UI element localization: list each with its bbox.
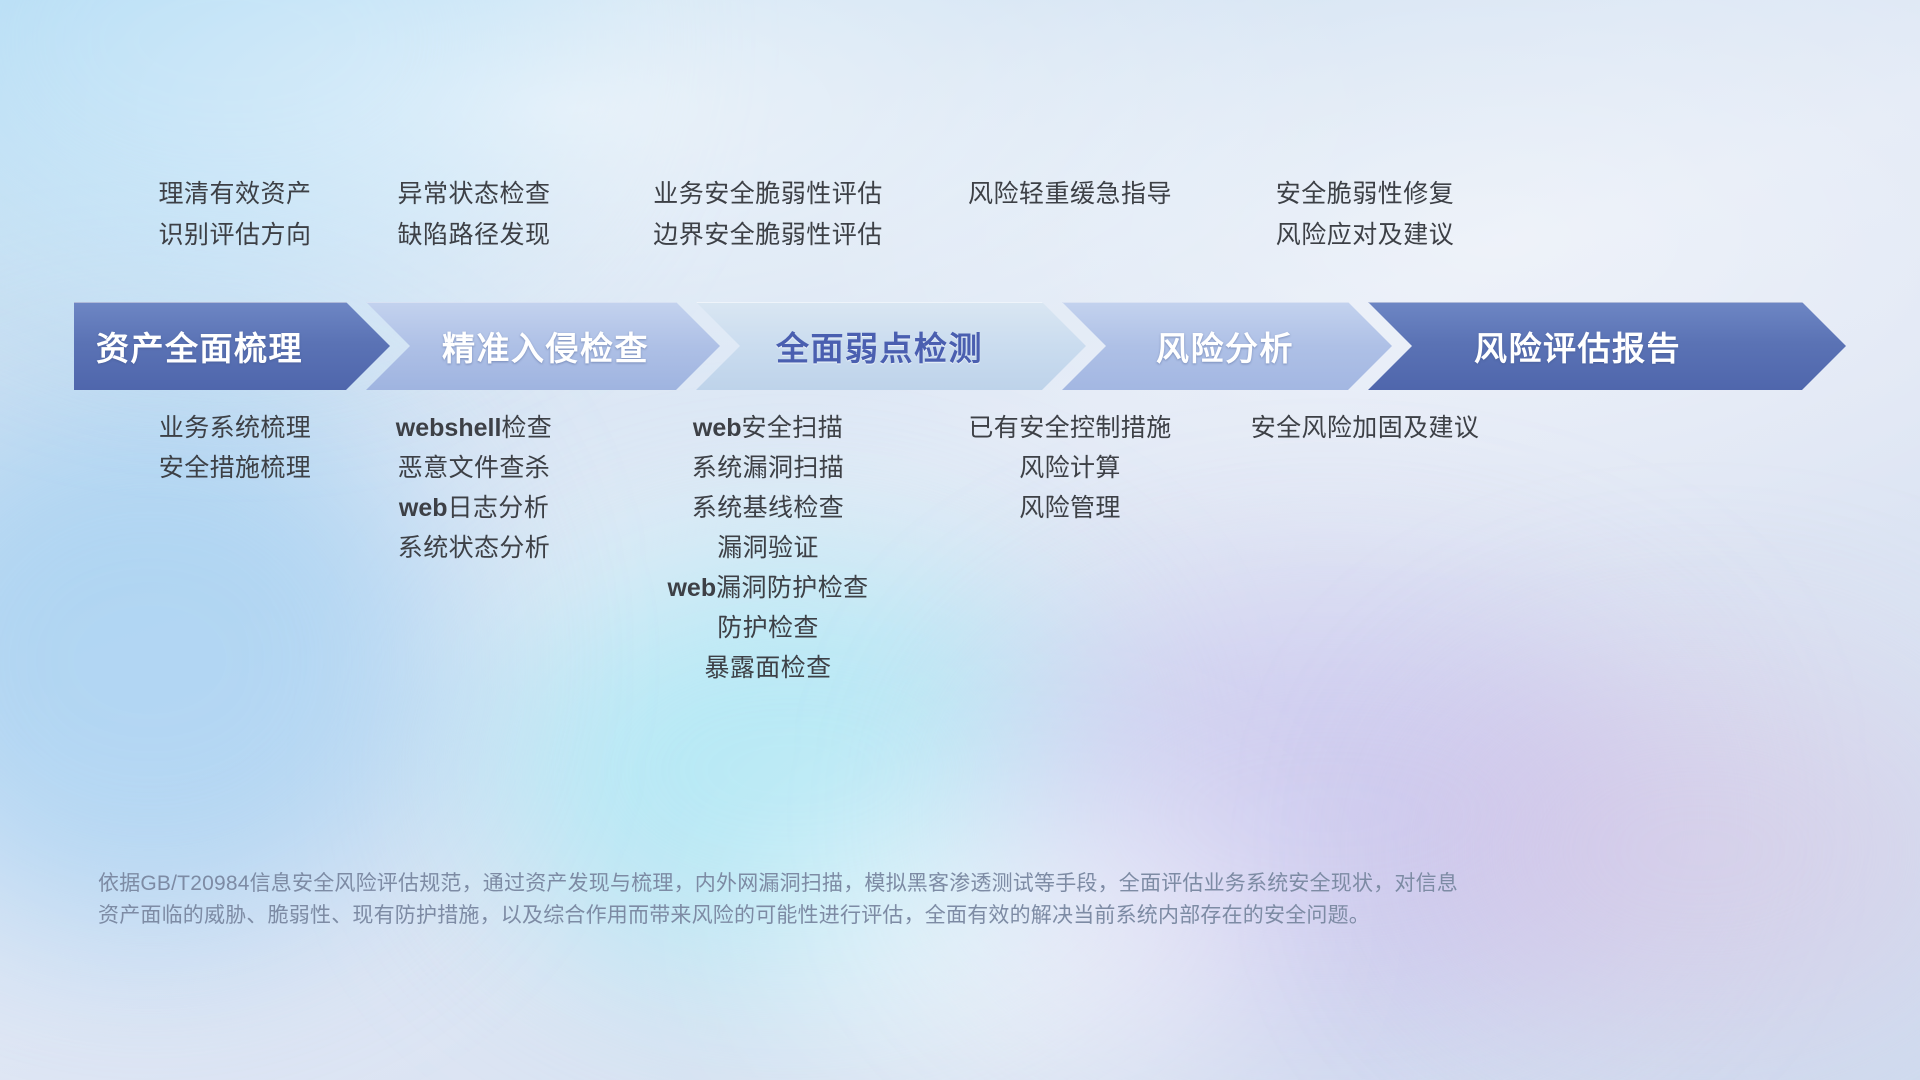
output-cn: 安全风险加固及建议 bbox=[1251, 414, 1480, 442]
chevron-stage-asset-inventory[interactable]: 资产全面梳理 bbox=[74, 302, 390, 390]
input-label: 缺陷路径发现 bbox=[397, 223, 550, 248]
output-item: 风险管理 bbox=[1019, 488, 1121, 528]
stage-outputs-row: 业务系统梳理 安全措施梳理 webshell检查 恶意文件查杀 web日志分析 … bbox=[0, 408, 1920, 708]
input-label: 边界安全脆弱性评估 bbox=[653, 223, 883, 248]
output-latin: web bbox=[399, 494, 448, 522]
output-cn: 漏洞验证 bbox=[717, 534, 819, 562]
chevron-label: 风险评估报告 bbox=[1474, 322, 1681, 370]
output-item: 安全风险加固及建议 bbox=[1251, 408, 1480, 448]
output-cn: 安全扫描 bbox=[742, 414, 844, 442]
input-label: 安全脆弱性修复 bbox=[1276, 182, 1455, 207]
output-item: webshell检查 bbox=[396, 408, 552, 448]
output-cn: 暴露面检查 bbox=[704, 654, 831, 682]
output-item: 系统基线检查 bbox=[692, 488, 844, 528]
output-cn: 恶意文件查杀 bbox=[398, 454, 550, 482]
output-item: web漏洞防护检查 bbox=[667, 568, 868, 608]
input-label: 风险应对及建议 bbox=[1276, 223, 1455, 248]
output-item: 防护检查 bbox=[717, 608, 819, 648]
footer-line-1: 依据GB/T20984信息安全风险评估规范，通过资产发现与梳理，内外网漏洞扫描，… bbox=[98, 868, 1658, 900]
output-cn: 防护检查 bbox=[717, 614, 819, 642]
footer-description: 依据GB/T20984信息安全风险评估规范，通过资产发现与梳理，内外网漏洞扫描，… bbox=[98, 868, 1658, 932]
output-cn: 已有安全控制措施 bbox=[968, 414, 1171, 442]
output-latin: webshell bbox=[396, 414, 502, 442]
output-item: 风险计算 bbox=[1019, 448, 1121, 488]
chevron-label: 精准入侵检查 bbox=[442, 322, 649, 370]
stage-inputs-row: 理清有效资产 识别评估方向 异常状态检查 缺陷路径发现 业务安全脆弱性评估 边界… bbox=[0, 182, 1920, 282]
chevron-label: 全面弱点检测 bbox=[776, 322, 983, 370]
chevron-stage-weakness-detection[interactable]: 全面弱点检测 bbox=[696, 302, 1086, 390]
stage-inputs-risk-report: 安全脆弱性修复 风险应对及建议 bbox=[1180, 182, 1550, 248]
chevron-label: 资产全面梳理 bbox=[96, 322, 303, 370]
output-cn: 日志分析 bbox=[448, 494, 550, 522]
input-label: 风险轻重缓急指导 bbox=[968, 182, 1172, 207]
input-label: 业务安全脆弱性评估 bbox=[653, 182, 883, 207]
footer-line-2: 资产面临的威胁、脆弱性、现有防护措施，以及综合作用而带来风险的可能性进行评估，全… bbox=[98, 900, 1658, 932]
output-item: 漏洞验证 bbox=[717, 528, 819, 568]
chevron-stage-risk-analysis[interactable]: 风险分析 bbox=[1062, 302, 1392, 390]
chevron-label: 风险分析 bbox=[1156, 322, 1294, 370]
output-item: 暴露面检查 bbox=[704, 648, 831, 688]
output-item: 系统状态分析 bbox=[398, 528, 550, 568]
output-cn: 系统状态分析 bbox=[398, 534, 550, 562]
output-item: 已有安全控制措施 bbox=[968, 408, 1171, 448]
output-cn: 系统基线检查 bbox=[692, 494, 844, 522]
process-diagram: 理清有效资产 识别评估方向 异常状态检查 缺陷路径发现 业务安全脆弱性评估 边界… bbox=[0, 0, 1920, 1080]
output-latin: web bbox=[667, 574, 716, 602]
stage-chevron-band: 资产全面梳理 精准入侵检查 全面弱点检测 风险分析 风险评估报告 bbox=[74, 302, 1846, 390]
output-item: 恶意文件查杀 bbox=[398, 448, 550, 488]
output-cn: 风险计算 bbox=[1019, 454, 1121, 482]
output-latin: web bbox=[693, 414, 742, 442]
output-cn: 系统漏洞扫描 bbox=[692, 454, 844, 482]
output-cn: 检查 bbox=[501, 414, 552, 442]
output-item: web日志分析 bbox=[399, 488, 549, 528]
output-cn: 风险管理 bbox=[1019, 494, 1121, 522]
chevron-stage-intrusion-check[interactable]: 精准入侵检查 bbox=[366, 302, 720, 390]
output-item: web安全扫描 bbox=[693, 408, 843, 448]
input-label: 异常状态检查 bbox=[397, 182, 550, 207]
output-item: 系统漏洞扫描 bbox=[692, 448, 844, 488]
stage-outputs-risk-report: 安全风险加固及建议 bbox=[1180, 408, 1550, 448]
output-cn: 漏洞防护检查 bbox=[716, 574, 868, 602]
chevron-stage-risk-report[interactable]: 风险评估报告 bbox=[1368, 302, 1846, 390]
